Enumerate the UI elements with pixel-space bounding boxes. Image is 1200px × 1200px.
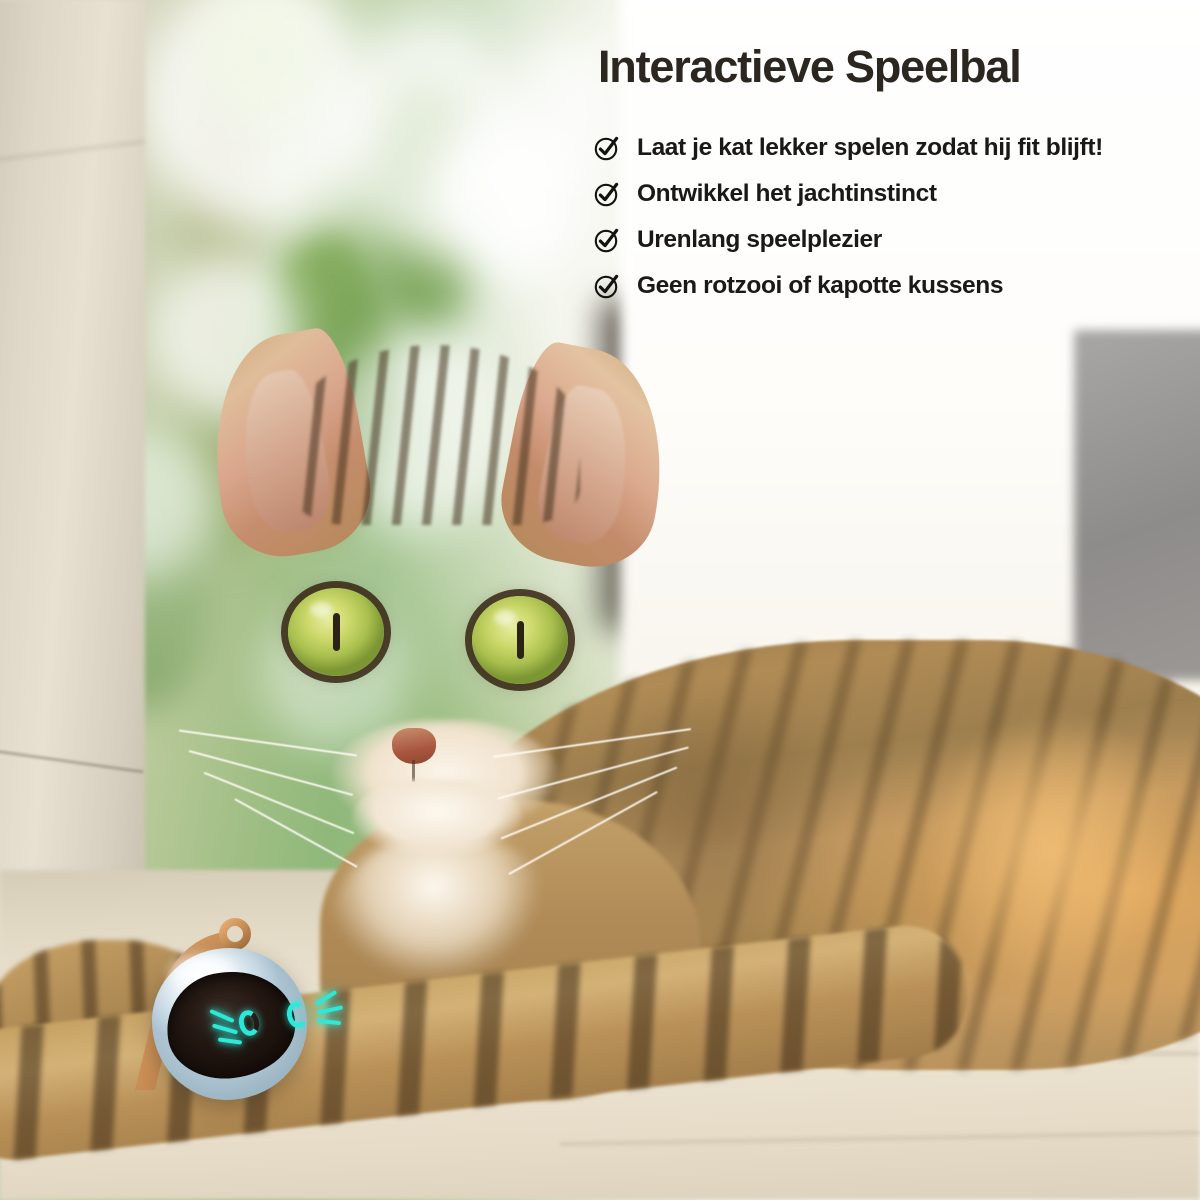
cat-pupil [333, 613, 340, 651]
list-item: Geen rotzooi of kapotte kussens [594, 263, 1194, 309]
feature-text: Laat je kat lekker spelen zodat hij fit … [637, 134, 1103, 162]
led-whisker-icon [315, 990, 337, 1006]
product-banner: Interactieve Speelbal Laat je kat lekker… [0, 0, 1200, 1200]
cat-chin [352, 780, 522, 870]
list-item: Urenlang speelplezier [594, 217, 1194, 263]
feature-text: Geen rotzooi of kapotte kussens [637, 272, 1003, 300]
check-circle-icon [594, 181, 620, 207]
list-item: Ontwikkel het jachtinstinct [594, 171, 1194, 217]
page-title: Interactieve Speelbal [598, 44, 1194, 89]
check-circle-icon [594, 273, 620, 299]
cat-nose [392, 728, 436, 764]
cat-eye-right [472, 596, 568, 684]
feature-list: Laat je kat lekker spelen zodat hij fit … [594, 125, 1194, 309]
feature-text: Ontwikkel het jachtinstinct [637, 180, 937, 208]
cat-pupil [517, 621, 524, 659]
check-circle-icon [594, 135, 620, 161]
cat-eye-highlight [494, 610, 516, 625]
cat-eye-left [288, 588, 384, 676]
cat-head-stripes [290, 345, 580, 525]
marketing-copy: Interactieve Speelbal Laat je kat lekker… [594, 44, 1194, 309]
cat-philtrum [412, 760, 415, 782]
interactive-cat-ball[interactable] [105, 910, 405, 1120]
list-item: Laat je kat lekker spelen zodat hij fit … [594, 125, 1194, 171]
cat-eye-highlight [310, 602, 332, 617]
led-whisker-icon [317, 1019, 341, 1025]
led-whisker-icon [317, 1005, 343, 1014]
feature-text: Urenlang speelplezier [637, 226, 882, 254]
check-circle-icon [594, 227, 620, 253]
